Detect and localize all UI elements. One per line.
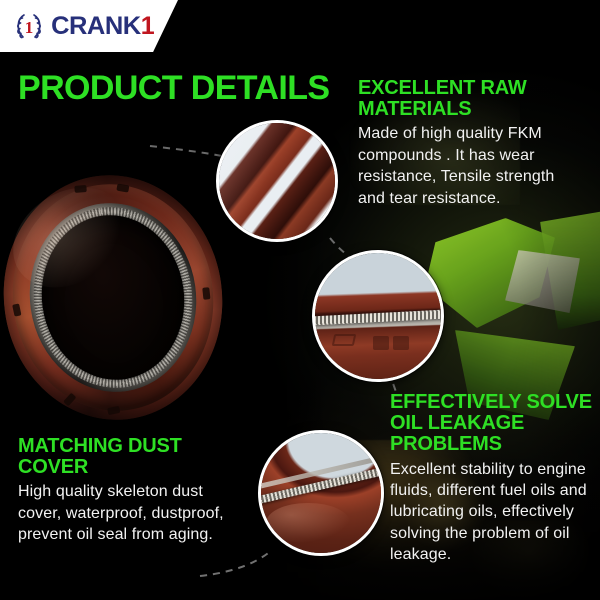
feature-block-raw-materials: EXCELLENT RAW MATERIALS Made of high qua… bbox=[358, 78, 584, 209]
page-title: PRODUCT DETAILS bbox=[18, 72, 329, 105]
brand-logo-banner[interactable]: 1 CRANK1 bbox=[0, 0, 178, 52]
page-title-text: PRODUCT DETAILS bbox=[18, 69, 329, 107]
feature-heading-raw-materials: EXCELLENT RAW MATERIALS bbox=[358, 78, 584, 120]
callout-circle-seal-spring bbox=[312, 250, 444, 382]
feature-body-dust-cover: High quality skeleton dust cover, waterp… bbox=[18, 481, 233, 545]
svg-text:1: 1 bbox=[25, 18, 34, 37]
brand-name-suffix: 1 bbox=[141, 12, 154, 41]
product-details-infographic: 1 CRANK1 PRODUCT DETAILS EXCELLENT RAW M… bbox=[0, 0, 600, 600]
feature-body-oil-leakage: Excellent stability to engine fluids, di… bbox=[390, 459, 595, 566]
brand-name-text: CRANK bbox=[51, 12, 141, 41]
laurel-wreath-number-one-icon: 1 bbox=[12, 10, 46, 42]
feature-heading-dust-cover: MATCHING DUST COVER bbox=[18, 436, 233, 478]
feature-body-raw-materials: Made of high quality FKM compounds . It … bbox=[358, 123, 584, 209]
feature-block-dust-cover: MATCHING DUST COVER High quality skeleto… bbox=[18, 436, 233, 546]
callout-circle-seal-edge bbox=[216, 120, 338, 242]
callout-circle-dust-cover-lip bbox=[258, 430, 384, 556]
main-product-oil-seal-image bbox=[0, 161, 238, 434]
feature-block-oil-leakage: EFFECTIVELY SOLVE OIL LEAKAGE PROBLEMS E… bbox=[390, 392, 595, 566]
feature-heading-oil-leakage: EFFECTIVELY SOLVE OIL LEAKAGE PROBLEMS bbox=[390, 392, 595, 456]
